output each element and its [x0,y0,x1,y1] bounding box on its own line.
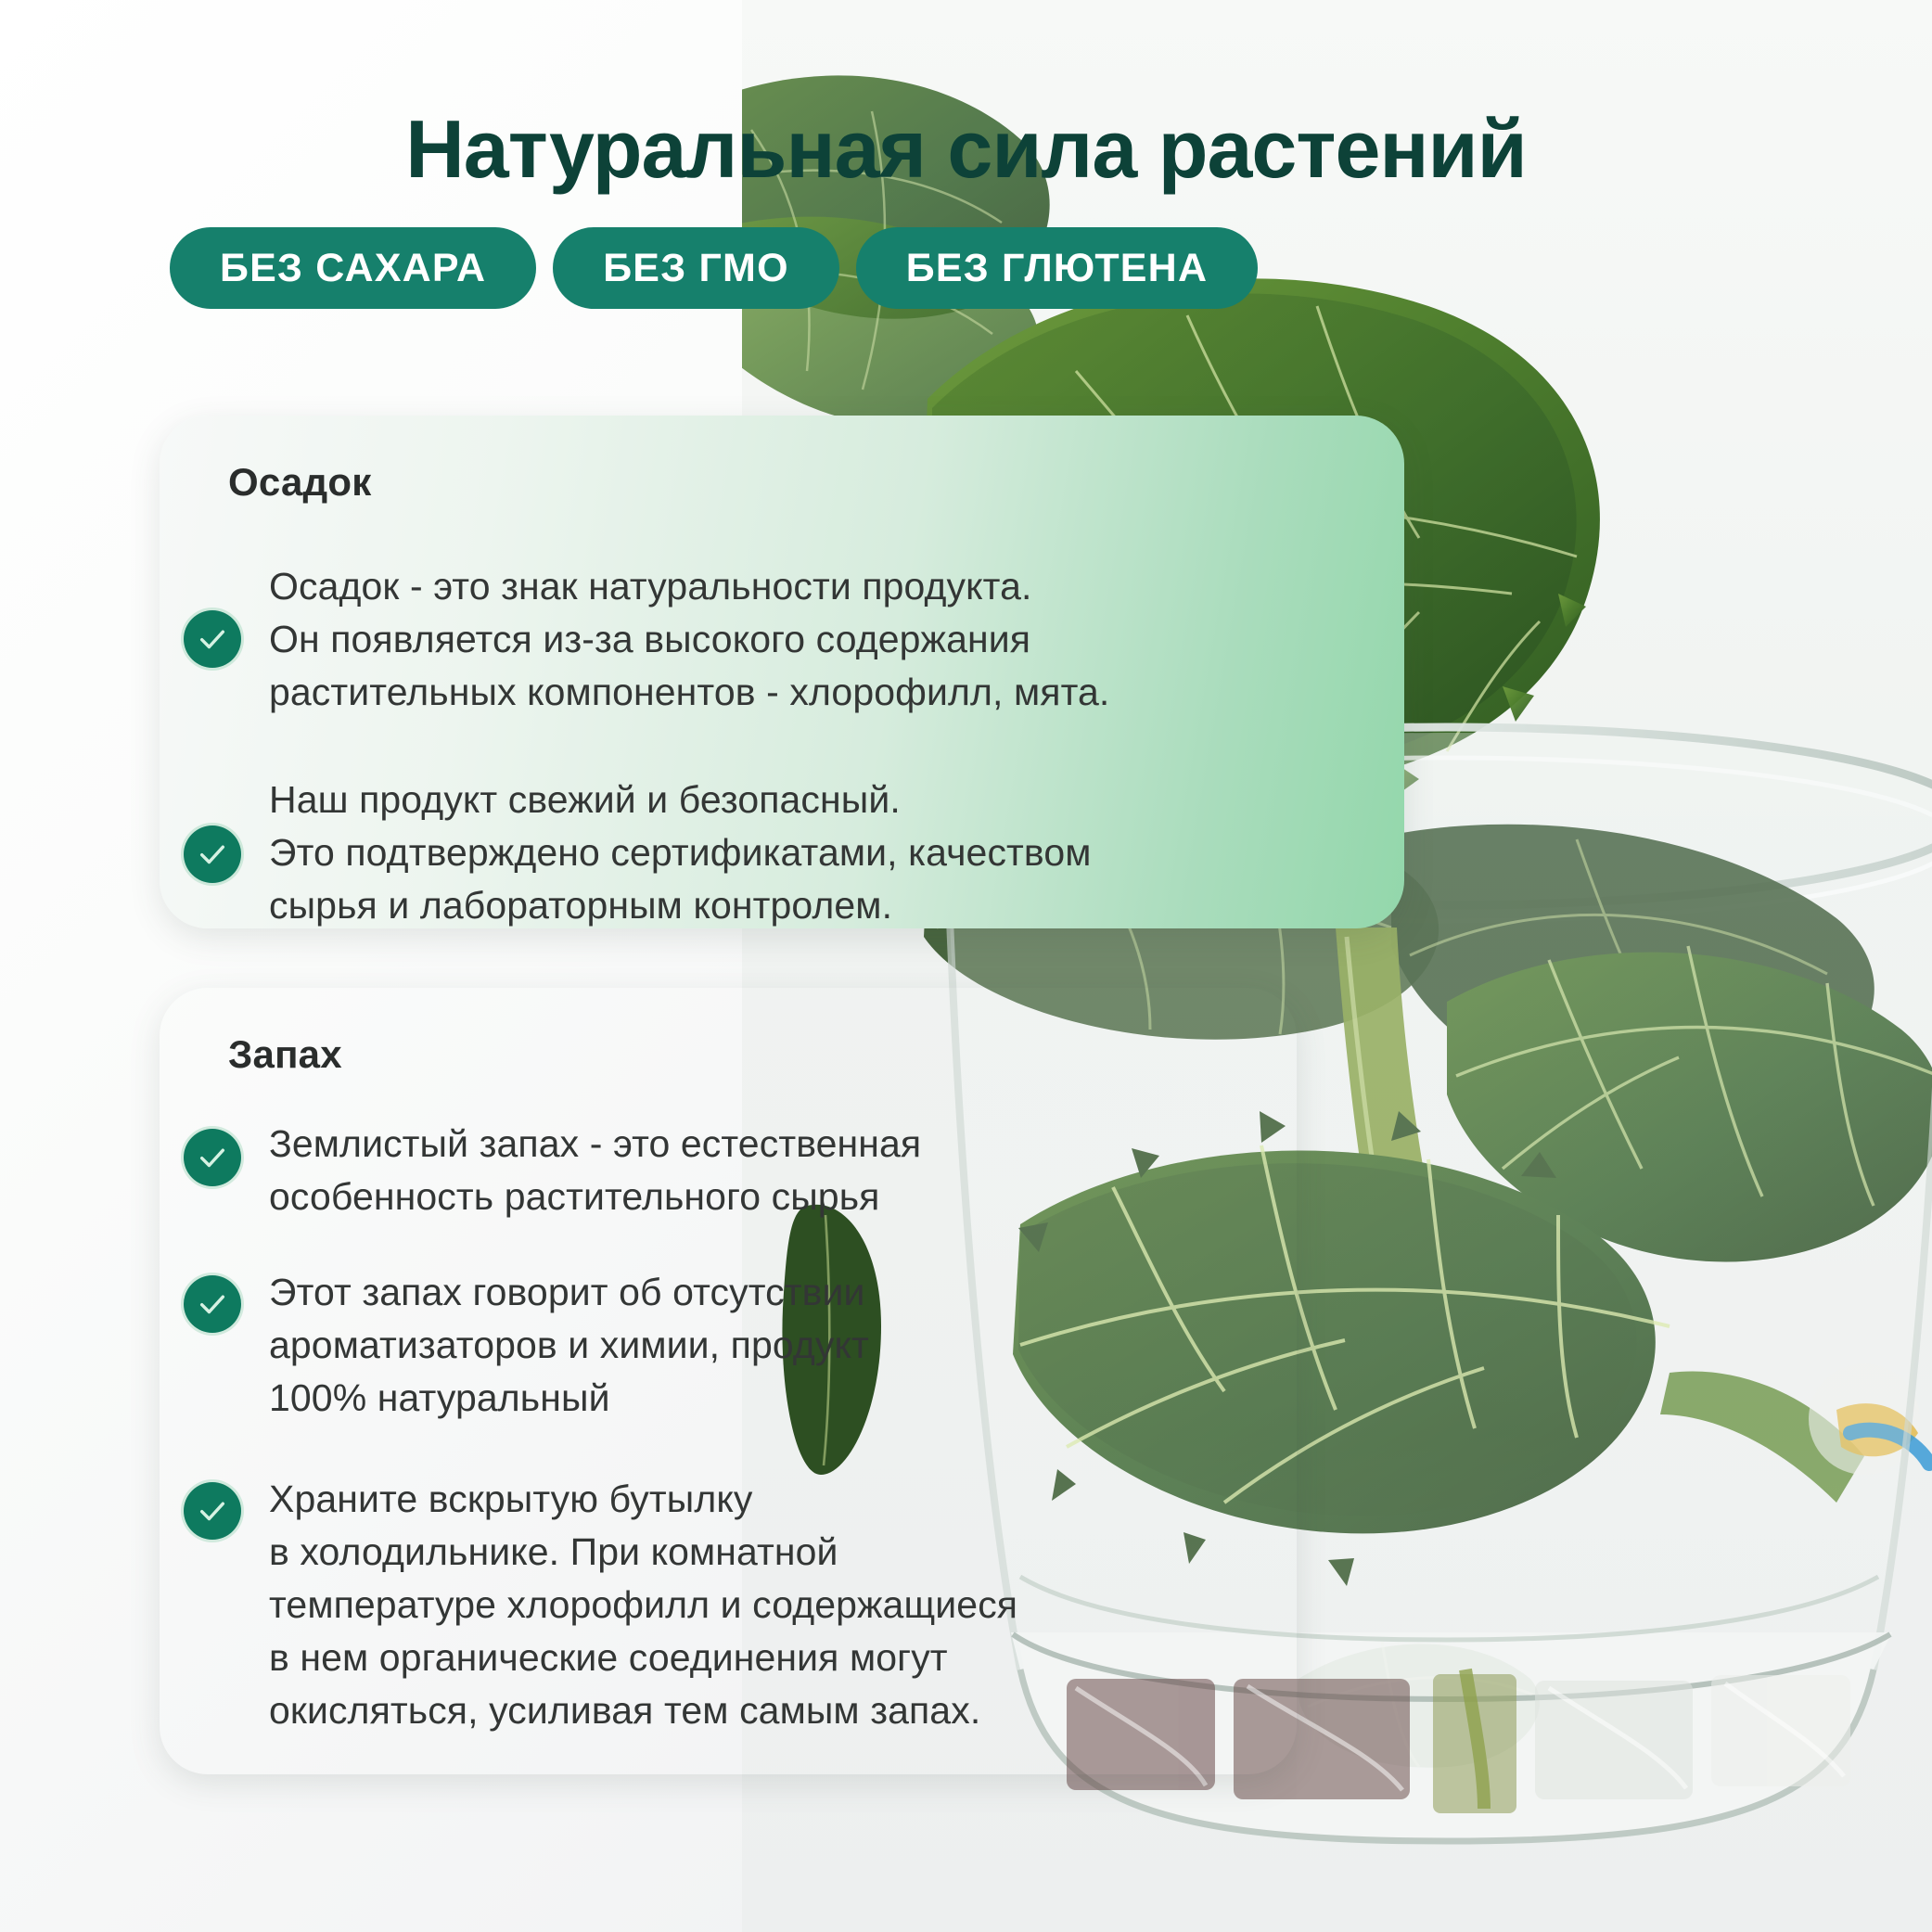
card-smell: Запах Землистый запах - это естественная… [160,988,1297,1774]
promo-canvas: Натуральная сила растений БЕЗ САХАРА БЕЗ… [0,0,1932,1932]
badge-no-gmo[interactable]: БЕЗ ГМО [553,227,839,309]
check-icon [184,1129,241,1186]
page-title: Натуральная сила растений [0,102,1932,197]
list-item-text: Землистый запах - это естественная особе… [269,1118,921,1223]
list-item: Землистый запах - это естественная особе… [184,1118,1260,1223]
list-item-text: Осадок - это знак натуральности продукта… [269,560,1109,719]
card-sediment-heading: Осадок [228,460,371,505]
list-item-text: Этот запах говорит об отсутствии аромати… [269,1266,869,1425]
list-item: Осадок - это знак натуральности продукта… [184,560,1362,719]
check-icon [184,825,241,883]
list-item-text: Храните вскрытую бутылку в холодильнике.… [269,1473,1017,1737]
list-item: Этот запах говорит об отсутствии аромати… [184,1266,1260,1425]
card-sediment: Осадок Осадок - это знак натуральности п… [160,416,1404,928]
badge-no-sugar[interactable]: БЕЗ САХАРА [170,227,536,309]
list-item: Храните вскрытую бутылку в холодильнике.… [184,1473,1278,1737]
list-item: Наш продукт свежий и безопасный. Это под… [184,774,1362,928]
list-item-text: Наш продукт свежий и безопасный. Это под… [269,774,1092,928]
badge-row: БЕЗ САХАРА БЕЗ ГМО БЕЗ ГЛЮТЕНА [170,227,1258,309]
check-icon [184,610,241,668]
check-icon [184,1275,241,1333]
card-smell-heading: Запах [228,1032,342,1077]
badge-no-gluten[interactable]: БЕЗ ГЛЮТЕНА [856,227,1258,309]
check-icon [184,1482,241,1540]
